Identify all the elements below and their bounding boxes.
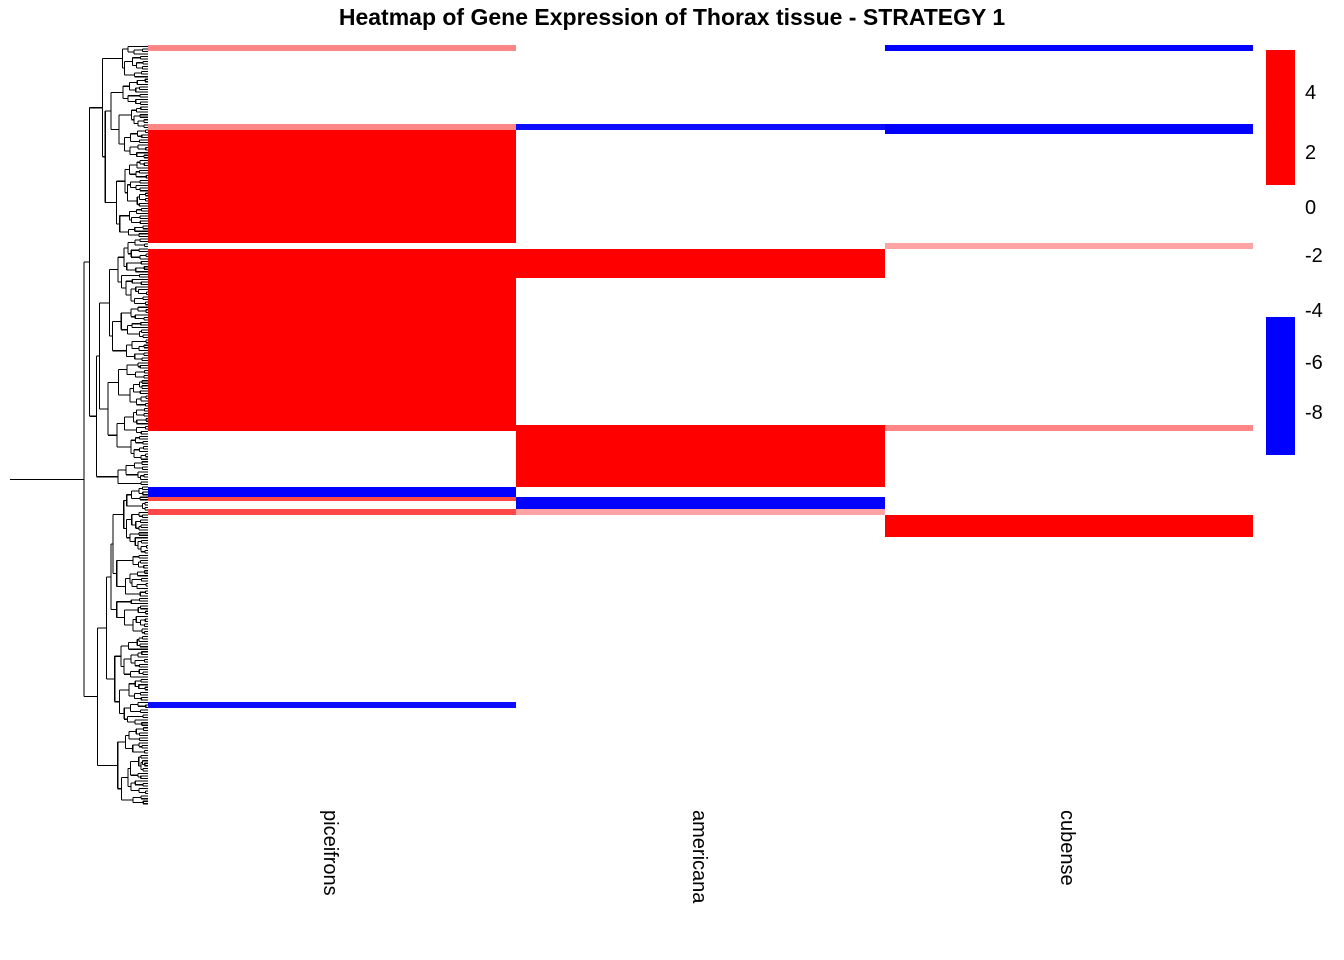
heatmap-cell [148, 134, 516, 243]
legend-tick-label: -6 [1305, 352, 1323, 375]
legend-tick-label: -8 [1305, 402, 1323, 425]
column-label-cubense: cubense [1055, 810, 1078, 886]
heatmap-cell [148, 278, 516, 425]
heatmap-cell [516, 249, 885, 278]
legend-tick-label: 4 [1305, 82, 1316, 105]
legend-tick-label: -2 [1305, 245, 1323, 268]
heatmap-cell [148, 130, 516, 134]
heatmap-cell [148, 45, 516, 51]
heatmap-cell [148, 249, 516, 278]
column-label-americana: americana [687, 810, 710, 903]
column-label-piceifrons: piceifrons [318, 810, 341, 896]
heatmap-figure [0, 0, 1344, 960]
heatmap-cell [885, 243, 1253, 249]
legend-red-bar [1266, 50, 1295, 185]
page-title: Heatmap of Gene Expression of Thorax tis… [0, 4, 1344, 31]
heatmap-cell [516, 478, 885, 487]
heatmap-cell [148, 702, 516, 708]
heatmap-cell [148, 497, 516, 501]
legend-tick-label: -4 [1305, 300, 1323, 323]
heatmap-cell [885, 124, 1253, 130]
legend-tick-label: 2 [1305, 142, 1316, 165]
legend-tick-label: 0 [1305, 197, 1316, 220]
heatmap-cell [885, 45, 1253, 51]
heatmap-cell [516, 497, 885, 501]
heatmap-cell [885, 425, 1253, 431]
heatmap-cell [148, 425, 516, 431]
heatmap-cell [148, 487, 516, 497]
heatmap-cell [516, 425, 885, 431]
heatmap-cell [516, 124, 885, 130]
legend-blue-bar [1266, 317, 1295, 455]
heatmap-cell [148, 124, 516, 130]
heatmap-cell [516, 501, 885, 509]
heatmap-cell [516, 509, 885, 515]
heatmap-cell [148, 509, 516, 515]
heatmap-cell [885, 515, 1253, 537]
heatmap-cell [516, 431, 885, 478]
heatmap-cell [885, 130, 1253, 134]
